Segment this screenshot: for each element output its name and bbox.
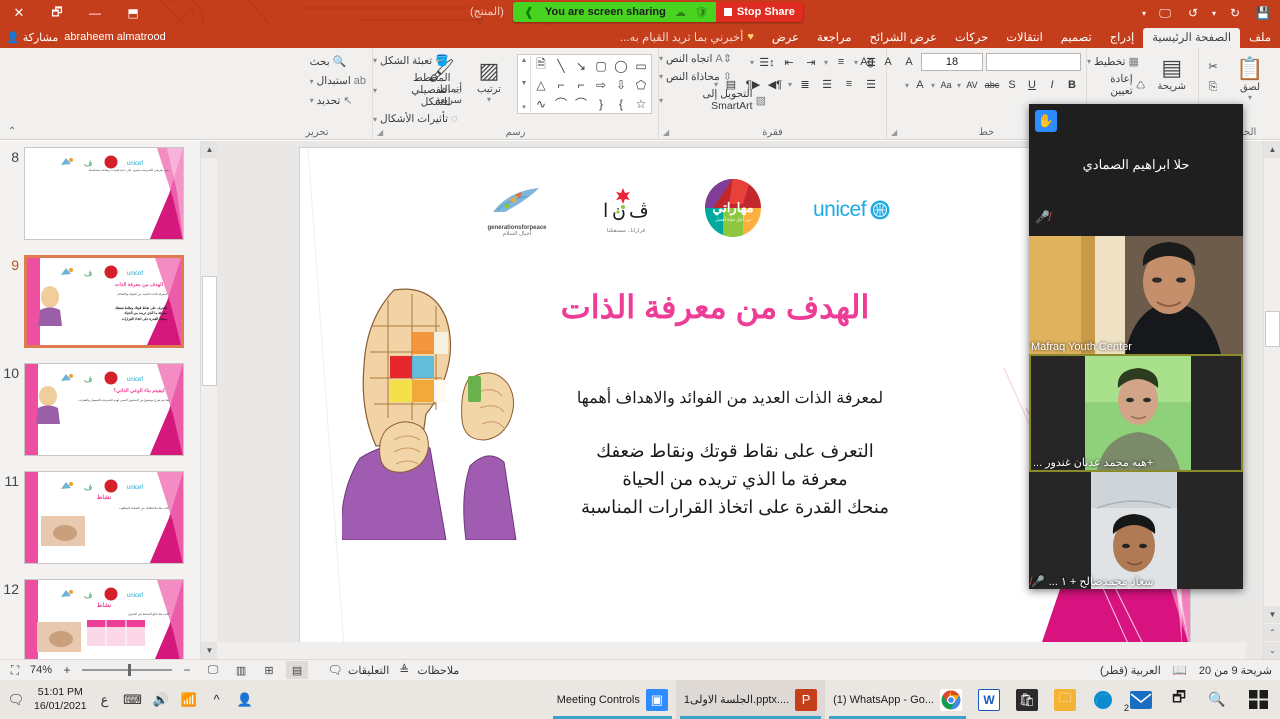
raise-hand-icon[interactable]: ✋	[1035, 110, 1057, 132]
fit-slide-icon[interactable]: ⛶	[6, 663, 24, 678]
thumbnail-number: 8	[0, 147, 24, 165]
thumbnail-item-10[interactable]: 10 ڤ unicef	[0, 363, 200, 456]
notes-icon: ≜	[395, 663, 413, 677]
title-bar: ✕ 🗗 — ⬒ (المنتج) ❰ You are screen sharin…	[0, 0, 1280, 26]
shape-brace-left-icon[interactable]: {	[591, 95, 611, 114]
grow-font-icon[interactable]: A	[900, 53, 918, 71]
participant-name-label: سعاد محمدصالح + ١ ... 🎤̸	[1031, 575, 1154, 588]
decrease-indent-icon[interactable]: ⇥	[802, 53, 820, 71]
participant-name: Mafraq Youth Center	[1031, 341, 1132, 353]
chevron-down-icon[interactable]: ▾	[1087, 57, 1091, 66]
zoom-participant-tile[interactable]: Mafraq Youth Center	[1029, 236, 1243, 354]
shape-outline-icon: ▱	[454, 84, 462, 97]
shape-line-icon[interactable]: ╲	[551, 55, 571, 76]
chevron-down-icon[interactable]: ▾	[931, 81, 935, 90]
lightbulb-icon: ♥	[747, 31, 754, 43]
tab-transitions[interactable]: انتقالات	[997, 28, 1052, 48]
participant-video	[1085, 356, 1191, 470]
scroll-up-icon[interactable]: ▲	[1264, 141, 1280, 158]
layout-label: تخطيط	[1094, 56, 1125, 68]
zoom-meeting-controls-button[interactable]: Meeting Controls ▣	[549, 680, 676, 719]
paragraph-dialog-launcher[interactable]: ◢	[663, 128, 669, 137]
svg-text:unicef: unicef	[127, 271, 143, 276]
powerpoint-taskbar-label: الجلسة الاولى1.pptx....	[684, 693, 789, 706]
thumbnail-body: لمعرفة الذات العديد من الفوائد والاهداف	[69, 292, 167, 297]
chrome-taskbar-label: (1) WhatsApp - Go...	[833, 694, 934, 706]
convert-smartart-label: التحويل إلى SmartArt	[666, 88, 753, 112]
shape-star-icon[interactable]: ☆	[631, 95, 651, 114]
quick-access-toolbar[interactable]: ▾ 🖵 ↺ ▾ ↻ 💾	[1138, 0, 1276, 26]
minimize-icon[interactable]: —	[76, 0, 114, 26]
clock-time: 51:01 PM	[38, 686, 83, 699]
align-center-icon[interactable]: ≡	[840, 75, 858, 93]
paste-label: لصق	[1240, 82, 1260, 93]
chevron-down-icon[interactable]: ▾	[487, 95, 491, 104]
scroll-down-icon[interactable]: ▼	[1264, 606, 1280, 623]
clock-date: 16/01/2021	[34, 700, 87, 713]
qararna-mustaqbalna-logo: ا ن ڤ قرارانا.. مستقبلنا	[599, 185, 653, 234]
select-label: تحديد	[317, 95, 341, 107]
stop-square-icon	[724, 8, 732, 16]
microsoft-store-taskbar-button[interactable]: 🛍	[1008, 680, 1046, 719]
select-cursor-icon: ↖	[343, 94, 352, 107]
text-shadow-icon[interactable]: S	[1003, 76, 1021, 94]
shapes-more-icon[interactable]: ▾	[522, 103, 526, 111]
generations-for-peace-logo: generationsforpeace أجيال السلام	[485, 182, 549, 237]
slide-sorter-view-button[interactable]: ⊞	[258, 661, 280, 679]
taskbar-apps[interactable]: Meeting Controls ▣ الجلسة الاولى1.pptx..…	[549, 680, 1280, 719]
document-title: (المنتج)	[470, 5, 504, 18]
shape-arrow-right-icon[interactable]: ⇨	[591, 76, 611, 95]
font-name-input[interactable]	[986, 53, 1081, 71]
shape-fill-label: تعبئة الشكل	[380, 55, 432, 67]
chevron-down-icon[interactable]: ▾	[788, 80, 792, 89]
scroll-up-icon[interactable]: ▲	[521, 57, 528, 64]
thumbnail-number: 9	[0, 255, 24, 273]
scroll-up-icon[interactable]: ▲	[201, 141, 218, 158]
thumbnail-image[interactable]: ڤ unicef الهدف من معرفة الذات لمعرفة الذ…	[24, 255, 184, 348]
chevron-down-icon[interactable]: ▾	[310, 96, 314, 105]
participant-video	[1091, 472, 1177, 589]
horizontal-scrollbar[interactable]	[217, 642, 1246, 659]
thumbnail-title: كيفيتم بناء الوعي الذاتي؟	[114, 388, 166, 394]
shape-freeform-icon[interactable]: ∿	[531, 95, 551, 114]
select-button[interactable]: ↖ تحديد ▾	[310, 94, 353, 107]
arrange-icon: ▨	[479, 58, 500, 84]
chevron-down-icon[interactable]: ▾	[659, 72, 663, 81]
character-spacing-icon[interactable]: AV	[963, 76, 981, 94]
tab-review[interactable]: مراجعة	[808, 28, 861, 48]
svg-text:unicef: unicef	[127, 485, 143, 490]
align-text-label: محاذاة النص	[666, 71, 720, 83]
keyboard-icon[interactable]: ⌨	[123, 692, 143, 708]
maharati-logo-text: مهاراتي	[712, 200, 753, 216]
chevron-down-icon[interactable]: ▾	[957, 81, 961, 90]
rtl-direction-icon[interactable]: ¶◀	[766, 75, 784, 93]
windows-taskbar[interactable]: 🗨 51:01 PM 16/01/2021 ع ⌨ 🔊 📶 ^ 👤 Meetin…	[0, 680, 1280, 719]
smartart-icon: ▧	[756, 94, 766, 107]
start-button[interactable]	[1236, 680, 1280, 719]
logo-caption-ar: أجيال السلام	[485, 231, 549, 237]
chevron-down-icon[interactable]: ▾	[659, 96, 663, 105]
thumbnail-number: 12	[0, 579, 24, 597]
redo-icon[interactable]: ↻	[1222, 2, 1248, 24]
thumbnail-item-8[interactable]: 8 ڤ	[0, 147, 200, 240]
normal-view-button[interactable]: ▤	[286, 661, 308, 679]
shape-arrow-down-icon[interactable]: ⇩	[611, 76, 631, 95]
comments-button[interactable]: التعليقات 🗨	[326, 663, 389, 677]
scrollbar-thumb[interactable]	[1265, 311, 1280, 347]
thumbnail-image[interactable]: ڤ unicef نشاط اكتب هنا ملاحظاتك عن النشا…	[24, 471, 184, 564]
file-explorer-taskbar-button[interactable]: 🗀	[1046, 680, 1084, 719]
edge-icon	[1092, 689, 1114, 711]
shape-rectangle-icon[interactable]: ▭	[631, 55, 651, 76]
tab-slideshow[interactable]: عرض الشرائح	[861, 28, 946, 48]
participant-name-label: Mafraq Youth Center	[1031, 341, 1132, 353]
layout-button[interactable]: ▦ تخطيط ▾	[1087, 55, 1139, 68]
shape-effects-label: تأثيرات الأشكال	[380, 113, 448, 125]
tell-me-box[interactable]: ♥ أخبرني بما تريد القيام به...	[611, 28, 763, 48]
layout-icon: ▦	[1128, 55, 1138, 68]
arrange-label: ترتيب	[477, 84, 501, 95]
new-slide-icon: ▤	[1161, 55, 1182, 81]
tab-design[interactable]: تصميم	[1052, 28, 1101, 48]
svg-text:unicef: unicef	[127, 377, 143, 382]
tab-home[interactable]: الصفحة الرئيسية	[1143, 28, 1240, 48]
zoom-active-speaker-name: حلا ابراهيم الصمادي	[1029, 157, 1243, 173]
slide-show-view-button[interactable]: 🖵	[202, 661, 224, 679]
task-view-button[interactable]: 🗗	[1160, 680, 1198, 719]
font-color-icon[interactable]: A	[911, 76, 929, 94]
chevron-down-icon[interactable]: ▾	[373, 86, 377, 95]
find-button[interactable]: 🔍 بحث	[310, 55, 347, 68]
zoom-slider-knob[interactable]	[128, 664, 131, 676]
thumbnail-title: نشاط	[25, 494, 183, 501]
bold-icon[interactable]: B	[1063, 76, 1081, 94]
mail-badge: 2	[1124, 703, 1129, 713]
next-slide-icon[interactable]: ⌄	[1264, 642, 1280, 659]
unicef-logo: unicef	[813, 198, 890, 222]
editing-group-label: تحرير	[262, 127, 372, 138]
chevron-down-icon[interactable]: ▾	[854, 58, 858, 67]
shape-fill-button[interactable]: 🪣 تعبئة الشكل ▾	[373, 54, 449, 67]
ribbon-group-editing: 🔍 بحث ab استبدال ▾ ↖ تحديد ▾ تحرير	[262, 48, 372, 140]
fullscreen-icon[interactable]: ⬒	[114, 0, 152, 26]
muted-microphone-icon: 🎤̸	[1031, 575, 1045, 588]
shape-triangle-icon[interactable]: △	[531, 76, 551, 95]
participant-video	[1029, 236, 1243, 354]
reset-label: إعادة تعيين	[1087, 73, 1133, 97]
share-button[interactable]: مشاركة 👤	[6, 31, 58, 44]
folder-icon: 🗀	[1054, 689, 1076, 711]
stop-share-button[interactable]: Stop Share	[716, 2, 803, 22]
change-case-icon[interactable]: Aa	[937, 76, 955, 94]
notes-label: ملاحظات	[417, 664, 459, 677]
shape-corner-icon[interactable]: ⌐	[551, 76, 571, 95]
svg-text:ڤ: ڤ	[629, 201, 649, 222]
powerpoint-icon: P	[795, 689, 817, 711]
zoom-participant-tile[interactable]: +هبه محمد عدنان غندور ...	[1029, 354, 1243, 472]
ribbon-group-drawing: ▭ ◯ ▢ ↘ ╲ 🗎 ⬠ ⇩ ⇨ ⌐ ⌐ △ ☆ } { ⌒ ⌒	[372, 48, 658, 140]
chevron-down-icon[interactable]: ▾	[310, 77, 314, 86]
word-taskbar-button[interactable]: W	[970, 680, 1008, 719]
chrome-taskbar-button[interactable]: (1) WhatsApp - Go...	[825, 680, 970, 719]
svg-text:ڤ: ڤ	[84, 159, 92, 168]
font-size-input[interactable]: 18	[921, 53, 983, 71]
thumbnail-item-12[interactable]: 12 ڤ unicef نشاط اكتب هنا نتائج ا	[0, 579, 200, 659]
share-label: مشاركة	[23, 31, 59, 44]
slide-logo-row: generationsforpeace أجيال السلام ا ن ڤ ق…	[485, 178, 890, 241]
svg-text:unicef: unicef	[127, 593, 143, 598]
justify-icon[interactable]: ≣	[796, 75, 814, 93]
reset-button[interactable]: ♺ إعادة تعيين	[1087, 73, 1146, 97]
thumbnail-image[interactable]: ڤ unicef نشاط اكتب هنا نتائج النشاط في ا…	[24, 579, 184, 659]
zoom-video-panel[interactable]: ✋ حلا ابراهيم الصمادي 🎤̸ Mafraq Youth Ce…	[1029, 104, 1243, 589]
chevron-down-icon[interactable]: ▾	[373, 56, 377, 65]
thumbnail-number: 11	[0, 471, 24, 489]
svg-text:من أجل حياة أفضل: من أجل حياة أفضل	[715, 215, 751, 223]
increase-indent-icon[interactable]: ⇤	[780, 53, 798, 71]
reading-view-button[interactable]: ▥	[230, 661, 252, 679]
shape-pentagon-icon[interactable]: ⬠	[631, 76, 651, 95]
font-dialog-launcher[interactable]: ◢	[891, 128, 897, 137]
thumbnail-title: الهدف من معرفة الذات	[115, 282, 163, 288]
shape-square-icon[interactable]: ▢	[591, 55, 611, 76]
chevron-down-icon[interactable]: ▾	[905, 81, 909, 90]
window-controls[interactable]: ✕ 🗗 — ⬒	[0, 0, 152, 26]
shield-icon[interactable]: 🛡	[695, 6, 708, 19]
stop-share-label: Stop Share	[737, 6, 795, 18]
thumbnail-item-9[interactable]: 9 ڤ unicef	[0, 255, 200, 348]
shape-elbow-icon[interactable]: ⌐	[571, 76, 591, 95]
scrollbar-thumb[interactable]	[202, 276, 217, 386]
svg-text:ا: ا	[603, 201, 608, 222]
zoom-meeting-controls-label: Meeting Controls	[557, 694, 640, 706]
paragraph-group-label: فقرة	[659, 127, 886, 138]
svg-text:ڤ: ڤ	[84, 483, 92, 492]
shapes-gallery[interactable]: ▭ ◯ ▢ ↘ ╲ 🗎 ⬠ ⇩ ⇨ ⌐ ⌐ △ ☆ } { ⌒ ⌒	[517, 54, 652, 114]
add-user-icon: 👤	[6, 31, 20, 44]
unicef-logo-text: unicef	[813, 198, 866, 222]
sharing-status: ❰ You are screen sharing ☁ 🛡	[513, 2, 716, 22]
svg-text:ڤ: ڤ	[84, 591, 92, 600]
svg-text:ڤ: ڤ	[84, 269, 92, 278]
clipboard-icon: 📋	[1236, 56, 1263, 82]
shape-arrow-icon[interactable]: ↘	[571, 55, 591, 76]
svg-text:ڤ: ڤ	[84, 375, 92, 384]
scroll-down-icon[interactable]: ▼	[201, 642, 218, 659]
text-direction-button[interactable]: ⇕A اتجاه النص ▾	[659, 52, 732, 65]
shape-textbox-icon[interactable]: 🗎	[531, 55, 551, 76]
tab-animations[interactable]: حركات	[946, 28, 997, 48]
tab-view[interactable]: عرض	[763, 28, 808, 48]
shapes-gallery-cells[interactable]: ▭ ◯ ▢ ↘ ╲ 🗎 ⬠ ⇩ ⇨ ⌐ ⌐ △ ☆ } { ⌒ ⌒	[531, 55, 651, 113]
replace-icon: ab	[354, 75, 366, 87]
shape-arc-icon[interactable]: ⌒	[571, 95, 591, 114]
account-name[interactable]: abraheem almatrood	[64, 31, 166, 43]
strikethrough-icon[interactable]: abc	[983, 76, 1001, 94]
align-text-icon: ⇳	[723, 70, 732, 83]
store-icon: 🛍	[1016, 689, 1038, 711]
slide-counter[interactable]: شريحة 9 من 20	[1199, 664, 1272, 677]
shape-outline-label: المخطط التفصيلي للشكل	[380, 72, 451, 108]
slide-thumbnail-pane[interactable]: 8 ڤ	[0, 141, 200, 659]
zoom-in-icon[interactable]: +	[58, 663, 76, 677]
align-text-button[interactable]: ⇳ محاذاة النص ▾	[659, 70, 732, 83]
slideshow-icon[interactable]: 🖵	[1152, 2, 1178, 24]
thumbnail-scrollbar[interactable]: ▲ ▼	[200, 141, 217, 659]
zoom-slider[interactable]	[82, 669, 172, 671]
chevron-down-icon[interactable]: ▾	[1138, 2, 1150, 24]
zoom-level-label[interactable]: 74%	[30, 664, 52, 676]
zoom-out-icon[interactable]: −	[178, 663, 196, 677]
tab-file[interactable]: ملف	[1240, 28, 1280, 48]
ribbon-tabs[interactable]: ملف الصفحة الرئيسية إدراج تصميم انتقالات…	[0, 26, 1280, 48]
vertical-scrollbar[interactable]: ▲ ▼ ⌃ ⌄	[1263, 141, 1280, 659]
thumbnail-item-11[interactable]: 11 ڤ unicef نشاط اكتب هنا ملاحظات	[0, 471, 200, 564]
thumbnail-title: نشاط	[25, 602, 183, 609]
language-indicator[interactable]: العربية (قطر)	[1100, 664, 1161, 677]
screen-share-banner: ❰ You are screen sharing ☁ 🛡 Stop Share	[513, 2, 803, 22]
copy-icon[interactable]: ⎘	[1204, 78, 1222, 96]
thumbnail-number: 10	[0, 363, 24, 381]
reset-icon: ♺	[1136, 79, 1146, 92]
participant-name-label: +هبه محمد عدنان غندور ...	[1033, 456, 1153, 469]
search-icon: 🔍	[1206, 689, 1228, 711]
ribbon-group-paragraph: ☰ ▾ ≡ ▾ ⇥ ⇤ ↕☰ ▾ ☰ ≡ ☰ ≣ ▾ ¶◀ ▶¶ ▤ ▾	[658, 48, 886, 140]
shapes-gallery-scroll[interactable]: ▲ ▼ ▾	[518, 55, 531, 113]
account-area[interactable]: مشاركة 👤 abraheem almatrood	[0, 26, 166, 48]
previous-slide-icon[interactable]: ⌃	[1264, 624, 1280, 641]
convert-smartart-button[interactable]: ▧ التحويل إلى SmartArt ▾	[659, 88, 766, 112]
restore-icon[interactable]: 🗗	[38, 0, 76, 26]
powerpoint-taskbar-button[interactable]: الجلسة الاولى1.pptx.... P	[676, 680, 825, 719]
arrange-button[interactable]: ▨ ترتيب ▾	[468, 54, 510, 106]
close-icon[interactable]: ✕	[0, 0, 38, 26]
cut-icon[interactable]: ✂	[1204, 57, 1222, 75]
drawing-dialog-launcher[interactable]: ◢	[377, 128, 383, 137]
status-bar: ⛶ 74% + − 🖵 ▥ ⊞ ▤ التعليقات 🗨 ملاحظات ≜ …	[0, 659, 1280, 680]
mail-icon	[1130, 689, 1152, 711]
replace-button[interactable]: ab استبدال ▾	[310, 75, 366, 87]
maharati-logo: مهاراتي من أجل حياة أفضل	[703, 178, 763, 241]
underline-icon[interactable]: U	[1023, 76, 1041, 94]
collapse-ribbon-icon[interactable]: ⌃	[8, 126, 16, 137]
sharing-status-label: You are screen sharing	[545, 6, 666, 18]
cloud-icon[interactable]: ☁	[674, 6, 687, 19]
shape-fill-icon: 🪣	[435, 54, 449, 67]
shape-curve-icon[interactable]: ⌒	[551, 95, 571, 114]
save-icon[interactable]: 💾	[1250, 2, 1276, 24]
align-right-icon[interactable]: ☰	[862, 75, 880, 93]
chevron-down-icon[interactable]: ▾	[373, 115, 377, 124]
muted-microphone-icon: 🎤̸	[1035, 210, 1050, 224]
chrome-icon	[940, 689, 962, 711]
shape-brace-right-icon[interactable]: }	[611, 95, 631, 114]
thumbnail-image[interactable]: ڤ unicef كيفيتم بناء الوعي الذاتي؟ هنا ي…	[24, 363, 184, 456]
people-icon[interactable]: 👤	[235, 692, 255, 708]
shape-outline-button[interactable]: ▱ المخطط التفصيلي للشكل ▾	[373, 72, 462, 108]
logo-caption-ar: قرارانا.. مستقبلنا	[599, 228, 653, 234]
replace-label: استبدال	[317, 75, 351, 87]
bullets-icon[interactable]: ☰	[862, 53, 880, 71]
search-icon: 🔍	[333, 55, 347, 68]
edge-taskbar-button[interactable]	[1084, 680, 1122, 719]
windows-logo-icon	[1249, 690, 1268, 709]
zoom-icon: ▣	[646, 689, 668, 711]
spellcheck-icon[interactable]: 📖	[1171, 663, 1189, 677]
network-icon[interactable]: 📶	[179, 692, 199, 708]
zoom-participant-tile[interactable]: سعاد محمدصالح + ١ ... 🎤̸	[1029, 472, 1243, 589]
tray-expand-icon[interactable]: ^	[207, 692, 227, 707]
svg-text:unicef: unicef	[127, 161, 143, 166]
numbering-icon[interactable]: ≡	[832, 53, 850, 71]
text-direction-icon: ⇕A	[715, 52, 732, 65]
chevron-down-icon[interactable]: ▾	[659, 54, 663, 63]
tab-insert[interactable]: إدراج	[1101, 28, 1144, 48]
new-slide-label: شريحة	[1158, 81, 1187, 92]
scroll-down-icon[interactable]: ▼	[521, 80, 528, 87]
notes-button[interactable]: ملاحظات ≜	[395, 663, 459, 677]
chevron-down-icon[interactable]: ▾	[824, 58, 828, 67]
undo-icon[interactable]: ↺	[1180, 2, 1206, 24]
shape-effects-icon: ◌	[451, 113, 458, 125]
drawing-group-label: رسم	[373, 127, 658, 138]
comments-label: التعليقات	[348, 664, 389, 677]
text-direction-label: اتجاه النص	[666, 53, 712, 65]
thumbnail-image[interactable]: ڤ unicef نص تعريفي للشريحة يحتوي على عدة…	[24, 147, 184, 240]
new-slide-button[interactable]: ▤ شريحة	[1150, 51, 1194, 97]
mail-taskbar-button[interactable]: 2	[1122, 680, 1160, 719]
ime-language-icon[interactable]: ع	[95, 692, 115, 708]
word-icon: W	[978, 689, 1000, 711]
shape-oval-icon[interactable]: ◯	[611, 55, 631, 76]
italic-icon[interactable]: I	[1043, 76, 1061, 94]
align-left-icon[interactable]: ☰	[818, 75, 836, 93]
task-view-icon: 🗗	[1168, 689, 1190, 711]
participant-name: سعاد محمدصالح + ١ ...	[1049, 575, 1154, 588]
undo-dropdown-icon[interactable]: ▾	[1208, 2, 1220, 24]
comment-icon: 🗨	[326, 663, 344, 677]
zoom-logo-icon: ❰	[521, 5, 537, 19]
shape-effects-button[interactable]: ◌ تأثيرات الأشكال ▾	[373, 113, 458, 125]
participant-name: +هبه محمد عدنان غندور ...	[1033, 456, 1153, 469]
find-label: بحث	[310, 56, 330, 68]
volume-icon[interactable]: 🔊	[151, 692, 171, 708]
notification-center-icon[interactable]: 🗨	[6, 692, 26, 708]
taskbar-clock[interactable]: 51:01 PM 16/01/2021	[34, 686, 87, 712]
tell-me-label: أخبرني بما تريد القيام به...	[620, 30, 743, 44]
paste-dropdown-icon[interactable]: ▾	[1248, 93, 1252, 102]
search-taskbar-button[interactable]: 🔍	[1198, 680, 1236, 719]
